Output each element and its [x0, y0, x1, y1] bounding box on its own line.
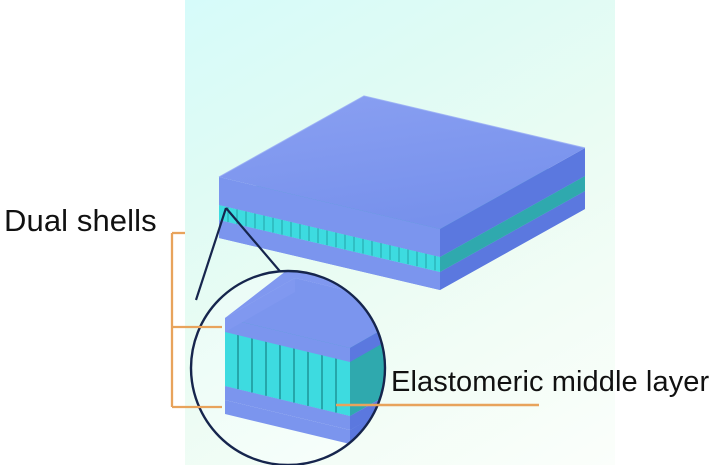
magnifier-inset	[191, 264, 420, 465]
main-sandwich-slab	[219, 96, 585, 290]
label-dual-shells: Dual shells	[4, 203, 157, 239]
label-elastomeric-middle-layer: Elastomeric middle layer	[391, 366, 709, 399]
figure-canvas: Dual shells Elastomeric middle layer	[0, 0, 720, 465]
